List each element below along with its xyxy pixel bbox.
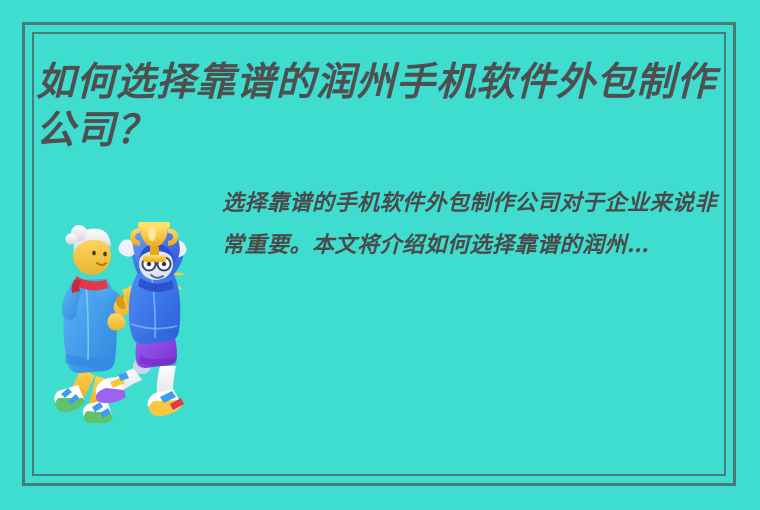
page-title: 如何选择靠谱的润州手机软件外包制作公司？: [36, 58, 742, 154]
article-summary: 选择靠谱的手机软件外包制作公司对于企业来说非常重要。本文将介绍如何选择靠谱的润州…: [222, 182, 722, 266]
article-card: 如何选择靠谱的润州手机软件外包制作公司？ 选择靠谱的手机软件外包制作公司对于企业…: [0, 0, 760, 510]
right-shoe-b: [148, 389, 184, 416]
left-shoe-b: [83, 400, 113, 423]
two-cheering-characters-illustration: [48, 218, 208, 423]
